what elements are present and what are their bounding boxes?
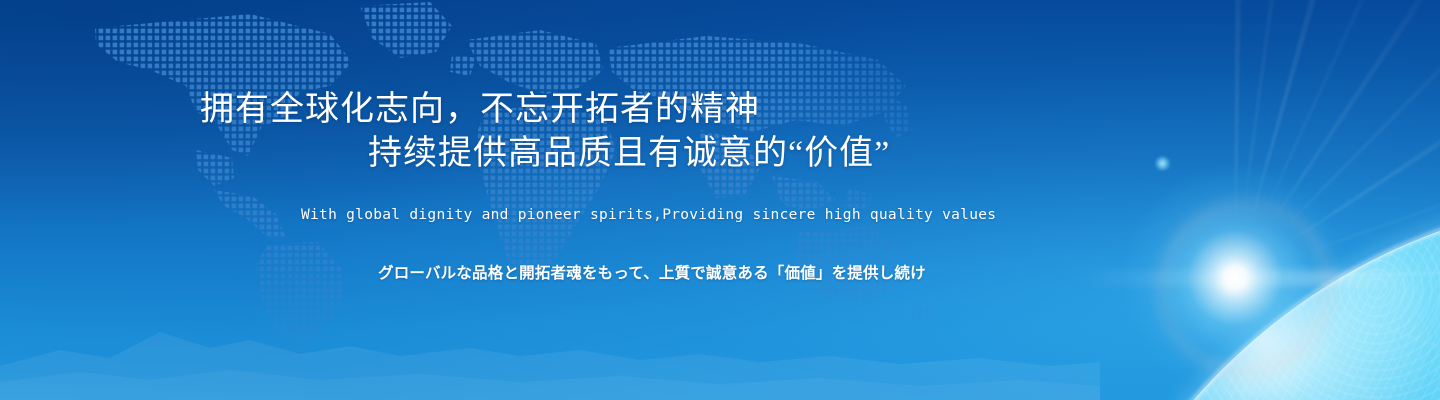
banner-copy: 拥有全球化志向，不忘开拓者的精神 持续提供高品质且有诚意的“价值” With g…	[0, 0, 1440, 400]
headline: 拥有全球化志向，不忘开拓者的精神 持续提供高品质且有诚意的“价值”	[200, 88, 890, 176]
hero-banner: 拥有全球化志向，不忘开拓者的精神 持续提供高品质且有诚意的“价值” With g…	[0, 0, 1440, 400]
subtitle-english: With global dignity and pioneer spirits,…	[301, 207, 996, 223]
headline-line-1: 拥有全球化志向，不忘开拓者的精神	[200, 91, 760, 128]
headline-line-2: 持续提供高品质且有诚意的“价值”	[200, 132, 890, 176]
subtitle-japanese: グローバルな品格と開拓者魂をもって、上質で誠意ある「価値」を提供し続け	[378, 261, 926, 283]
